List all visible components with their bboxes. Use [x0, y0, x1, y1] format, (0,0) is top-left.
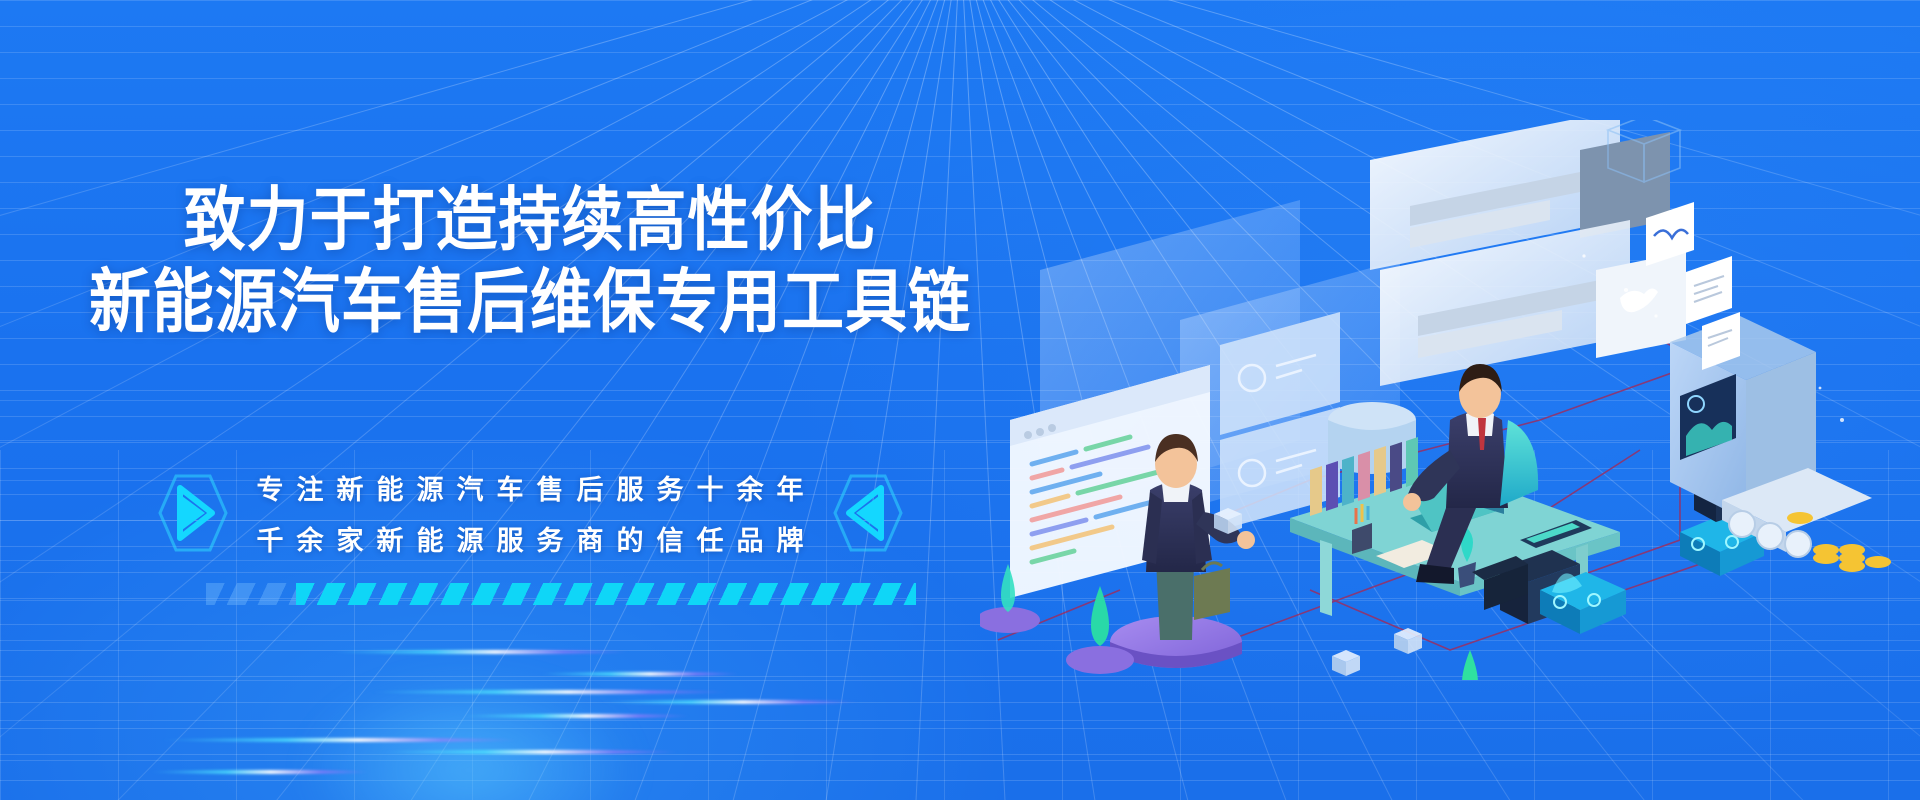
subtitle-line-1: 专注新能源汽车售后服务十余年 — [244, 468, 817, 507]
isometric-office-collaboration-illustration — [980, 120, 1920, 680]
light-streak — [540, 672, 740, 676]
headline-line-1: 致力于打造持续高性价比 — [0, 186, 1060, 255]
play-left-arrow-icon — [831, 472, 909, 554]
headline-line-2: 新能源汽车售后维保专用工具链 — [0, 268, 1060, 337]
light-streak — [460, 714, 690, 718]
light-streak — [600, 700, 860, 704]
light-streak — [380, 750, 680, 754]
hero-banner: 致力于打造持续高性价比 新能源汽车售后维保专用工具链 专注新能源汽车售后服务十余… — [0, 0, 1920, 800]
stripe-bar-faint — [206, 583, 302, 605]
diagonal-stripe-bar — [296, 583, 916, 605]
light-streak — [160, 738, 520, 742]
light-streak — [330, 650, 630, 654]
subtitle-lines: 专注新能源汽车售后服务十余年 千余家新能源服务商的信任品牌 — [244, 468, 817, 558]
subtitle-line-2: 千余家新能源服务商的信任品牌 — [244, 519, 817, 558]
play-right-arrow-icon — [152, 472, 230, 554]
subtitle-group: 专注新能源汽车售后服务十余年 千余家新能源服务商的信任品牌 — [0, 468, 1060, 558]
light-streak — [370, 690, 730, 694]
light-streak — [150, 770, 370, 774]
